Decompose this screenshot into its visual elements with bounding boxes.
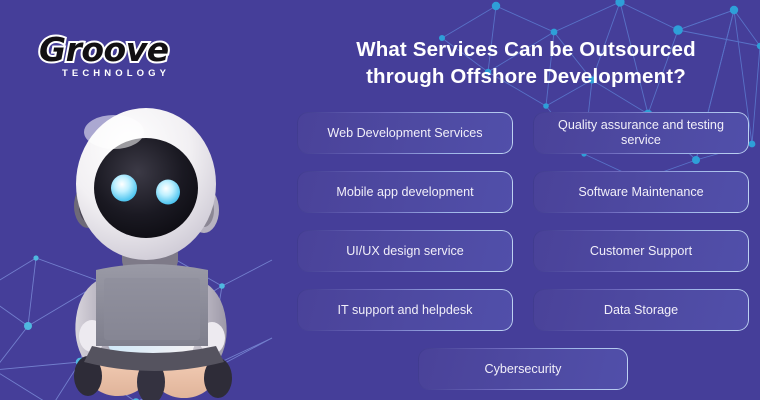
service-card-customer-support[interactable]: Customer Support (533, 230, 749, 272)
service-card-label: Web Development Services (327, 126, 482, 141)
service-card-label: Software Maintenance (578, 185, 703, 200)
service-card-label: Mobile app development (336, 185, 473, 200)
service-card-quality-assurance[interactable]: Quality assurance and testing service (533, 112, 749, 154)
service-card-ui-ux-design[interactable]: UI/UX design service (297, 230, 513, 272)
service-card-label: UI/UX design service (346, 244, 464, 259)
services-row: IT support and helpdesk Data Storage (297, 289, 749, 331)
services-row: Mobile app development Software Maintena… (297, 171, 749, 213)
banner-root: Groove TECHNOLOGY (0, 0, 760, 400)
service-card-software-maintenance[interactable]: Software Maintenance (533, 171, 749, 213)
brand-logo: Groove TECHNOLOGY (38, 33, 164, 85)
service-card-data-storage[interactable]: Data Storage (533, 289, 749, 331)
page-title-line-1: What Services Can be Outsourced (300, 36, 752, 63)
service-card-label: Customer Support (590, 244, 692, 259)
service-card-cybersecurity[interactable]: Cybersecurity (418, 348, 628, 390)
service-card-label: IT support and helpdesk (338, 303, 473, 318)
page-title: What Services Can be Outsourced through … (300, 36, 752, 90)
service-card-mobile-app-development[interactable]: Mobile app development (297, 171, 513, 213)
service-card-web-development[interactable]: Web Development Services (297, 112, 513, 154)
robot-with-laptop-illustration (52, 88, 272, 400)
services-row: Web Development Services Quality assuran… (297, 112, 749, 154)
service-card-it-support[interactable]: IT support and helpdesk (297, 289, 513, 331)
brand-tagline: TECHNOLOGY (62, 68, 164, 80)
service-card-label: Cybersecurity (485, 362, 562, 377)
service-card-label: Data Storage (604, 303, 678, 318)
services-grid: Web Development Services Quality assuran… (297, 112, 749, 390)
service-card-label: Quality assurance and testing service (543, 118, 739, 148)
services-row: UI/UX design service Customer Support (297, 230, 749, 272)
services-row-final: Cybersecurity (297, 348, 749, 390)
brand-name: Groove (39, 33, 164, 67)
page-title-line-2: through Offshore Development? (300, 63, 752, 90)
